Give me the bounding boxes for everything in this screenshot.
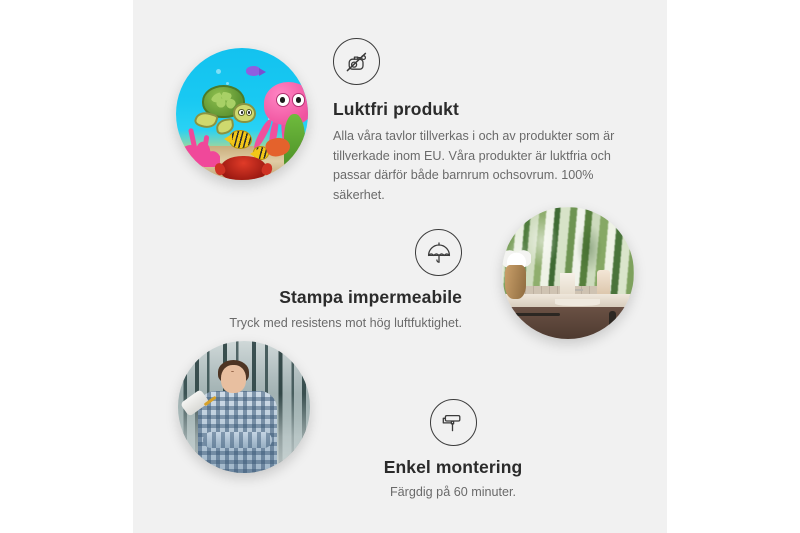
woman-painter-forest-circle-image — [178, 341, 310, 473]
octopus-eye — [292, 93, 306, 107]
feature-body: Alla våra tavlor tillverkas i och av pro… — [333, 127, 625, 205]
feature-odourless: Luktfri produkt Alla våra tavlor tillver… — [333, 38, 625, 205]
vase — [505, 265, 526, 299]
sink-basin — [555, 299, 600, 306]
bathroom-tropical-wallpaper-circle-image — [502, 207, 634, 339]
purple-fish-icon — [246, 66, 261, 75]
crab-icon — [221, 156, 266, 180]
feature-assembly: Enkel montering Färgdig på 60 minuter. — [333, 399, 573, 503]
umbrella-icon — [415, 229, 462, 276]
feature-title: Stampa impermeabile — [170, 287, 462, 308]
feature-body: Färgdig på 60 minuter. — [333, 483, 573, 503]
turtle-head — [233, 103, 256, 123]
octopus-eye — [276, 93, 290, 107]
paint-roller-icon — [430, 399, 477, 446]
smile — [231, 370, 234, 372]
promo-feature-graphic: Luktfri produkt Alla våra tavlor tillver… — [0, 0, 800, 533]
underwater-cartoon-circle-image — [176, 48, 308, 180]
pink-coral — [183, 122, 220, 167]
octopus-body — [264, 82, 308, 125]
turtle-eye — [246, 109, 253, 117]
woman-figure — [196, 365, 278, 473]
turtle-eye — [238, 109, 245, 117]
feature-title: Luktfri produkt — [333, 99, 625, 120]
face — [221, 365, 246, 393]
bubble-icon — [216, 69, 221, 74]
feature-title: Enkel montering — [333, 457, 573, 478]
feature-waterproof: Stampa impermeabile Tryck med resistens … — [170, 229, 462, 334]
feature-body: Tryck med resistens mot hög luftfuktighe… — [170, 314, 462, 334]
sea-turtle-icon — [197, 85, 252, 126]
no-fragrance-icon — [333, 38, 380, 85]
crossed-arms — [203, 432, 272, 448]
wooden-vanity-cabinet — [502, 307, 634, 339]
striped-fish-icon — [229, 130, 252, 149]
